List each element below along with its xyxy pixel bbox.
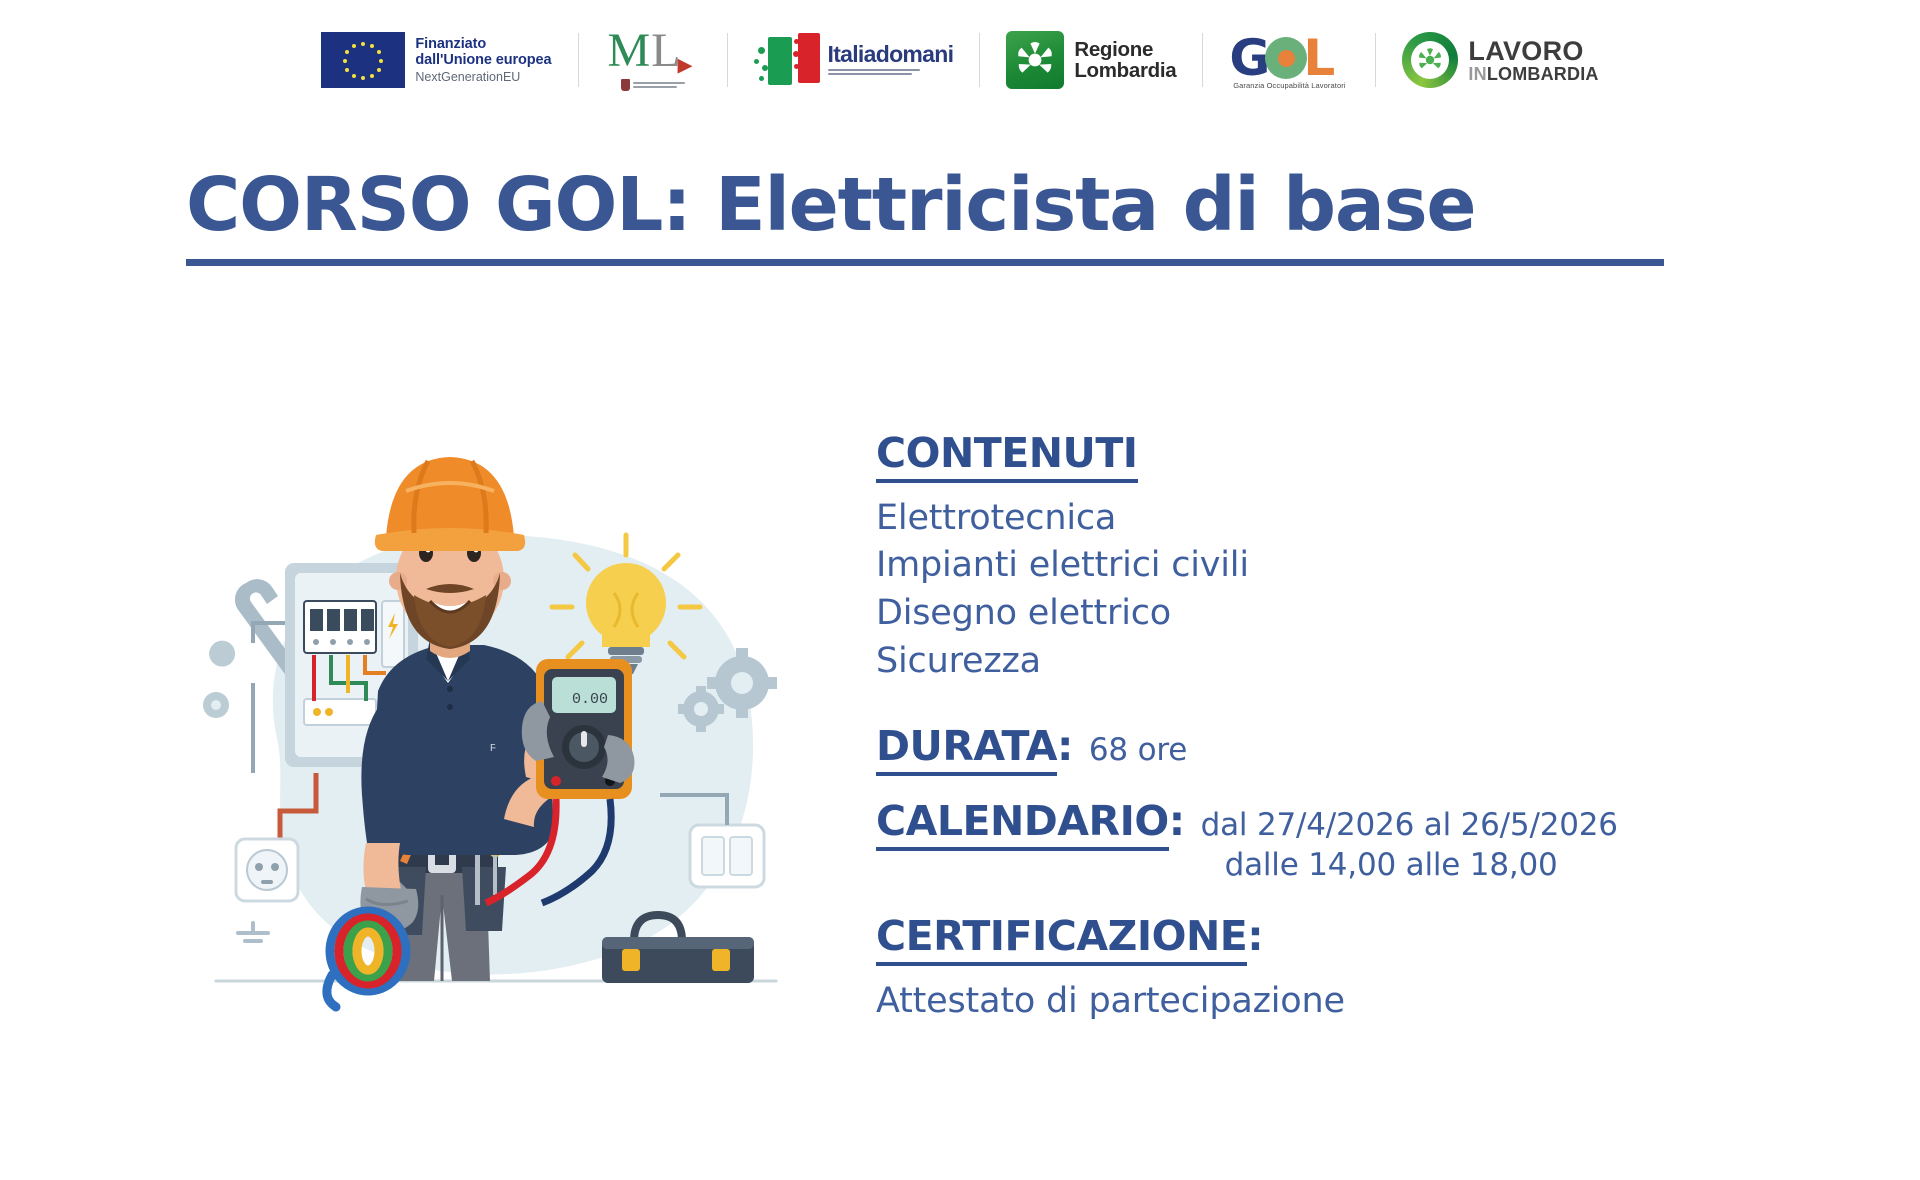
gol-letter-g: G [1229,33,1268,83]
lavoro-rose-circle-icon [1402,32,1458,88]
mim-crest-icon [621,79,630,91]
lavoro-line-1: LAVORO [1468,38,1598,65]
light-switch-icon [690,825,764,887]
domani-word: domani [876,41,954,67]
section-heading-contenuti: CONTENUTI [876,430,1138,483]
contenuti-item-1: Elettrotecnica [876,495,1896,543]
contenuti-item-4: Sicurezza [876,638,1896,686]
gol-letter-l: L [1303,33,1335,83]
lavoro-line-2: INLOMBARDIA [1468,65,1598,83]
title-block: CORSO GOL: Elettricista di base [186,168,1686,266]
italia-domani-subtitle-lines [828,69,954,75]
calendario-colon: : [1169,797,1185,845]
electrician-illustration: ELETTRO FORMAZIONE [190,443,802,1025]
cable-coil-icon [330,911,406,991]
section-heading-calendario: CALENDARIO: [876,798,1185,851]
logo-slot-eu: Finanziato dall'Unione europea NextGener… [321,22,551,98]
poster-page: Finanziato dall'Unione europea NextGener… [0,0,1920,1180]
logo-slot-gol: G L Garanzia Occupabilità Lavoratori [1229,22,1349,98]
lavoro-lombardia-word: LOMBARDIA [1487,64,1599,84]
lavoro-in-lombardia-logo: LAVORO INLOMBARDIA [1402,32,1598,88]
calendario-time-range: dalle 14,00 alle 18,00 [1201,847,1618,883]
multimeter-reading: 0.00 [572,691,608,708]
eu-line-3: NextGenerationEU [415,70,551,84]
lavoro-in-word: IN [1468,64,1486,84]
contenuti-item-2: Impianti elettrici civili [876,542,1896,590]
durata-value: 68 ore [1089,732,1187,768]
italia-domani-text: Italiadomani [828,43,954,77]
italia-domani-wordmark: Italiadomani [828,43,954,66]
header-logo-bar: Finanziato dall'Unione europea NextGener… [0,14,1920,106]
gol-wordmark-icon: G L [1229,31,1349,83]
eu-logo-text: Finanziato dall'Unione europea NextGener… [415,36,551,84]
section-durata: DURATA: 68 ore [876,723,1896,776]
logo-slot-italiadomani: Italiadomani [754,22,954,98]
mim-monogram-icon: ML▸ [607,29,697,77]
title-underline [186,259,1664,266]
certificazione-heading-text: CERTIFICAZIONE [876,913,1247,966]
logo-slot-mim: ML▸ [605,22,701,98]
durata-heading-text: DURATA [876,723,1057,776]
italian-flag-icon [754,31,820,89]
calendario-values: dal 27/4/2026 al 26/5/2026 dalle 14,00 a… [1201,807,1618,883]
page-title: CORSO GOL: Elettricista di base [186,168,1686,243]
regione-lombardia-text: Regione Lombardia [1074,39,1176,82]
electrician-illustration-svg: ELETTRO FORMAZIONE [190,443,802,1025]
contenuti-heading-text: CONTENUTI [876,430,1138,483]
mim-subtitle-mark [621,79,685,91]
calendario-heading-text: CALENDARIO [876,798,1169,851]
regione-lombardia-logo: Regione Lombardia [1006,31,1176,89]
contenuti-item-3: Disegno elettrico [876,590,1896,638]
gol-logo: G L Garanzia Occupabilità Lavoratori [1229,31,1349,90]
gol-orange-dot [1278,50,1295,67]
logo-divider-3 [979,33,980,87]
eu-funding-logo: Finanziato dall'Unione europea NextGener… [321,32,551,88]
italia-domani-logo: Italiadomani [754,31,954,89]
eu-flag-icon [321,32,405,88]
course-details: CONTENUTI Elettrotecnica Impianti elettr… [876,430,1896,1025]
power-socket-icon [236,839,298,901]
regione-line-1: Regione [1074,39,1176,60]
certificazione-value: Attestato di partecipazione [876,978,1896,1026]
durata-colon: : [1057,722,1073,770]
certificazione-colon: : [1247,912,1263,960]
logo-slot-regione-lombardia: Regione Lombardia [1006,22,1176,98]
logo-divider-4 [1202,33,1203,87]
section-calendario: CALENDARIO: dal 27/4/2026 al 26/5/2026 d… [876,798,1896,883]
lavoro-rose-svg [1402,32,1458,88]
calendario-date-range: dal 27/4/2026 al 26/5/2026 [1201,807,1618,843]
hard-hat-icon [375,457,525,551]
logo-slot-lavoro-in-lombardia: LAVORO INLOMBARDIA [1402,22,1598,98]
section-heading-certificazione: CERTIFICAZIONE: [876,913,1263,966]
lombardia-rose-icon [1006,31,1064,89]
italia-word: Italia [828,41,876,67]
lavoro-in-lombardia-text: LAVORO INLOMBARDIA [1468,38,1598,83]
logo-divider-2 [727,33,728,87]
regione-line-2: Lombardia [1074,60,1176,81]
eu-line-2: dall'Unione europea [415,52,551,68]
small-gear-icon [203,692,229,718]
lombardia-rose-svg [1006,31,1064,89]
eu-line-1: Finanziato [415,36,551,52]
logo-divider-1 [578,33,579,87]
mim-subtitle-lines [633,82,685,88]
section-heading-durata: DURATA: [876,723,1073,776]
logo-divider-5 [1375,33,1376,87]
mim-ministero-logo: ML▸ [605,29,701,91]
